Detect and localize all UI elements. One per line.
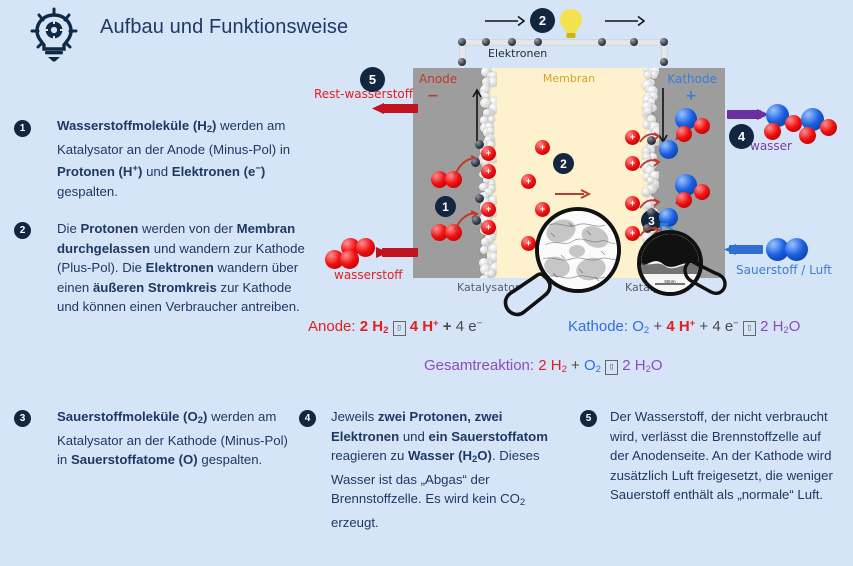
diagram-badge-circuit: 2 [530, 8, 555, 33]
proton-transport-arrow [555, 188, 591, 200]
diagram-badge-anode-split: 1 [435, 196, 456, 217]
electron-particle [471, 158, 480, 167]
step-badge-2: 2 [14, 222, 31, 239]
electron-flow-arrow-left [485, 14, 525, 28]
diagram-badge-water: 4 [729, 124, 754, 149]
proton-particle: + [625, 130, 640, 145]
proton-particle: + [625, 156, 640, 171]
equation-anode: Anode: 2 H2 ▯ 4 H+ + 4 e− [308, 318, 482, 336]
electron-node [660, 38, 668, 46]
cathode-label: Kathode [667, 72, 717, 86]
catalyst-bead [643, 121, 651, 129]
step-badge-4: 4 [299, 410, 316, 427]
electron-particle [475, 194, 484, 203]
equation-anode-label: Anode: [308, 318, 356, 335]
header: Aufbau und Funktionsweise [0, 0, 420, 66]
catalyst-bead [479, 275, 490, 278]
electrons-label: Elektronen [488, 47, 547, 60]
electron-node [534, 38, 542, 46]
proton-particle: + [535, 140, 550, 155]
step-text-1: Wasserstoffmoleküle (H2) werden am Katal… [57, 116, 305, 201]
hydrogen-atom [340, 250, 359, 269]
lightbulb-gear-icon [24, 6, 84, 62]
proton-particle: + [481, 146, 496, 161]
electron-particle [472, 216, 481, 225]
electron-flow-arrow-right [605, 14, 645, 28]
catalyst-bead [647, 177, 654, 184]
proton-particle: + [521, 174, 536, 189]
electron-node [482, 38, 490, 46]
water-hydrogen-atom [694, 184, 710, 200]
magnifier-handle [681, 256, 727, 298]
step-text-2: Die Protonen werden von der Membran durc… [57, 219, 309, 317]
cathode-proton-arrow [639, 130, 661, 148]
anode-current-arrow [471, 86, 483, 146]
oxygen-atom [659, 140, 678, 159]
electron-node [598, 38, 606, 46]
water-hydrogen-atom [785, 115, 802, 132]
water-hydrogen-atom [694, 118, 710, 134]
water-hydrogen-atom [799, 127, 816, 144]
water-hydrogen-atom [820, 119, 837, 136]
proton-particle: + [481, 202, 496, 217]
proton-particle: + [625, 226, 640, 241]
step-text-4: Jeweils zwei Protonen, zwei Elektronen u… [331, 407, 566, 532]
proton-particle: + [481, 220, 496, 235]
svg-text:50nm: 50nm [664, 279, 676, 284]
catalyst-bead [481, 238, 488, 245]
proton-particle: + [535, 202, 550, 217]
equation-cathode: Kathode: O2 + 4 H+ + 4 e− ▯ 2 H2O [568, 318, 800, 336]
anode-pole-label: − [427, 88, 439, 104]
electron-node [508, 38, 516, 46]
electron-node [630, 38, 638, 46]
proton-particle: + [481, 164, 496, 179]
rest-hydrogen-arrow [368, 100, 386, 117]
reaction-arrow-glyph: ▯ [393, 321, 406, 336]
water-outlet-pipe [727, 110, 761, 119]
electron-node [458, 38, 466, 46]
cathode-proton-arrow [639, 196, 661, 214]
anode-label: Anode [419, 72, 457, 86]
step-text-5: Der Wasserstoff, der nicht verbraucht wi… [610, 407, 842, 505]
reaction-arrow-glyph: ▯ [605, 360, 618, 375]
proton-particle: + [521, 236, 536, 251]
cathode-pole-label: + [685, 88, 697, 104]
electron-node [458, 58, 466, 66]
equation-overall: Gesamtreaktion: 2 H2 + O2 ▯ 2 H2O [424, 357, 663, 375]
step-badge-3: 3 [14, 410, 31, 427]
rest-hydrogen-pipe [382, 104, 418, 113]
equation-overall-label: Gesamtreaktion: [424, 357, 534, 374]
oxygen-label: Sauerstoff / Luft [736, 263, 832, 277]
reaction-arrow-glyph: ▯ [743, 321, 756, 336]
hydrogen-atom [356, 238, 375, 257]
step-badge-1: 1 [14, 120, 31, 137]
magnifier-handle [500, 268, 560, 322]
lightbulb-load-icon [558, 8, 584, 42]
water-hydrogen-atom [676, 126, 692, 142]
cathode-proton-arrow [639, 156, 661, 174]
step-badge-5: 5 [580, 410, 597, 427]
water-hydrogen-atom [676, 192, 692, 208]
equation-cathode-label: Kathode: [568, 318, 628, 335]
diagram-badge-rest-hydrogen: 5 [360, 67, 385, 92]
step-text-3: Sauerstoffmoleküle (O2) werden am Kataly… [57, 407, 297, 470]
hydrogen-inlet-arrow [376, 244, 392, 261]
water-label: wasser [750, 139, 792, 153]
oxygen-atom [785, 238, 808, 261]
catalyst-bead [480, 246, 488, 254]
catalyst-bead [642, 188, 649, 195]
water-hydrogen-atom [764, 123, 781, 140]
page-title: Aufbau und Funktionsweise [100, 16, 348, 39]
diagram-badge-membrane: 2 [553, 153, 574, 174]
membrane-label: Membran [543, 72, 595, 85]
electron-node [660, 58, 668, 66]
proton-particle: + [625, 196, 640, 211]
hydrogen-label: wasserstoff [334, 268, 403, 282]
catalyst-bead [644, 71, 652, 79]
